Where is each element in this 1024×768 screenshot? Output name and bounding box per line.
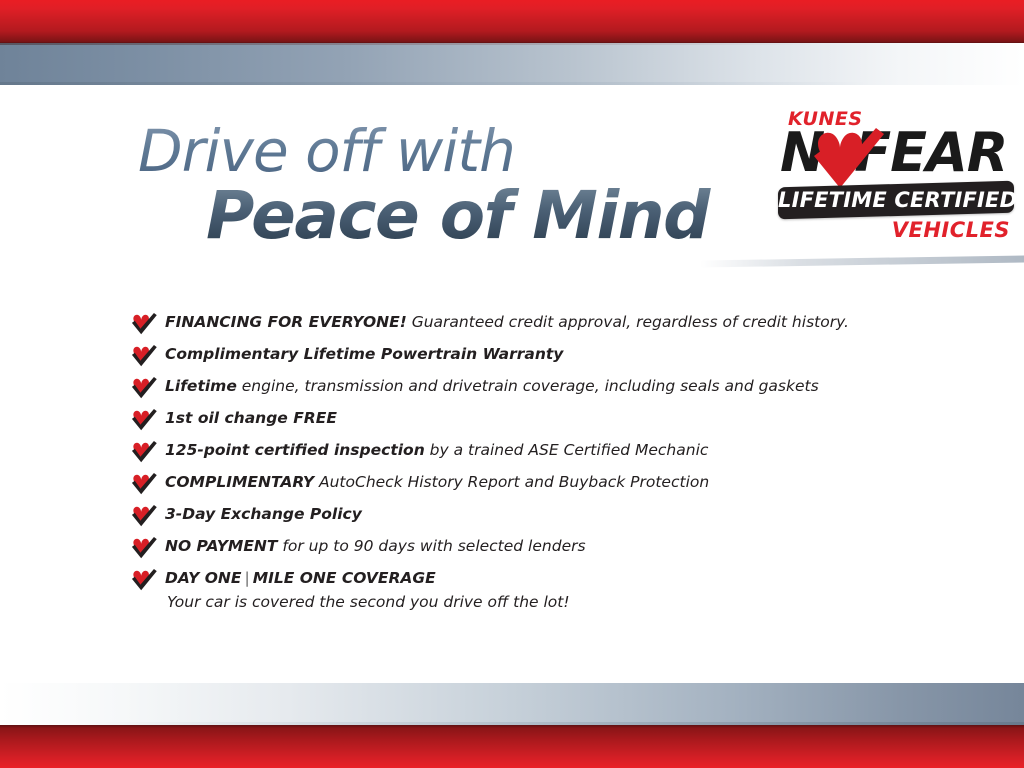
list-item-bold-a: DAY ONE bbox=[165, 569, 241, 587]
headline-block: Drive off with Peace of Mind bbox=[138, 122, 758, 249]
list-item-separator: | bbox=[241, 569, 252, 587]
list-item: NO PAYMENT for up to 90 days with select… bbox=[131, 534, 931, 566]
benefits-list: FINANCING FOR EVERYONE! Guaranteed credi… bbox=[131, 310, 931, 620]
list-item: 125-point certified inspection by a trai… bbox=[131, 438, 931, 470]
list-item-bold: Complimentary Lifetime Powertrain Warran… bbox=[165, 345, 563, 363]
list-item-text: FINANCING FOR EVERYONE! Guaranteed credi… bbox=[165, 313, 849, 331]
list-item-normal: AutoCheck History Report and Buyback Pro… bbox=[314, 473, 709, 491]
list-item-text: COMPLIMENTARY AutoCheck History Report a… bbox=[165, 473, 709, 491]
list-item-normal: by a trained ASE Certified Mechanic bbox=[425, 441, 709, 459]
list-item-subtext: Your car is covered the second you drive… bbox=[167, 590, 931, 614]
top-gray-band bbox=[0, 43, 1024, 85]
list-item-bold: Lifetime bbox=[165, 377, 237, 395]
logo-vehicles-text: VEHICLES bbox=[892, 218, 1010, 242]
list-item-bold: 125-point certified inspection bbox=[165, 441, 425, 459]
heart-check-icon bbox=[131, 505, 159, 527]
heart-check-icon bbox=[131, 569, 159, 591]
list-item-normal: Guaranteed credit approval, regardless o… bbox=[407, 313, 849, 331]
heart-check-icon bbox=[131, 313, 159, 335]
list-item: 3-Day Exchange Policy bbox=[131, 502, 931, 534]
kunes-no-fear-logo: KUNES NFEAR LIFETIME CERTIFIED VEHICLES bbox=[778, 108, 1016, 248]
list-item: 1st oil change FREE bbox=[131, 406, 931, 438]
list-item-text: 3-Day Exchange Policy bbox=[165, 505, 362, 523]
list-item-bold: 3-Day Exchange Policy bbox=[165, 505, 362, 523]
heart-check-icon bbox=[131, 473, 159, 495]
heart-check-icon bbox=[131, 409, 159, 431]
heart-check-icon bbox=[131, 537, 159, 559]
list-item-text: 125-point certified inspection by a trai… bbox=[165, 441, 708, 459]
logo-heart-check-icon bbox=[812, 128, 884, 190]
list-item-bold: 1st oil change FREE bbox=[165, 409, 337, 427]
bottom-gray-band bbox=[0, 683, 1024, 725]
list-item-text: DAY ONE|MILE ONE COVERAGE bbox=[165, 566, 931, 590]
heart-check-icon bbox=[131, 377, 159, 399]
header-divider bbox=[700, 255, 1024, 267]
list-item: Complimentary Lifetime Powertrain Warran… bbox=[131, 342, 931, 374]
logo-lifetime-certified-text: LIFETIME CERTIFIED bbox=[778, 184, 1014, 216]
list-item-bold-b: MILE ONE COVERAGE bbox=[253, 569, 436, 587]
heart-check-icon bbox=[131, 441, 159, 463]
list-item-bold: NO PAYMENT bbox=[165, 537, 277, 555]
list-item-text: Complimentary Lifetime Powertrain Warran… bbox=[165, 345, 563, 363]
list-item: DAY ONE|MILE ONE COVERAGE Your car is co… bbox=[131, 566, 931, 620]
list-item: COMPLIMENTARY AutoCheck History Report a… bbox=[131, 470, 931, 502]
list-item-normal: for up to 90 days with selected lenders bbox=[277, 537, 585, 555]
promo-banner: Drive off with Peace of Mind KUNES NFEAR… bbox=[0, 0, 1024, 768]
list-item: Lifetime engine, transmission and drivet… bbox=[131, 374, 931, 406]
top-red-band bbox=[0, 0, 1024, 43]
list-item-normal: engine, transmission and drivetrain cove… bbox=[237, 377, 819, 395]
headline-line-2: Peace of Mind bbox=[206, 182, 758, 249]
list-item: FINANCING FOR EVERYONE! Guaranteed credi… bbox=[131, 310, 931, 342]
list-item-bold: FINANCING FOR EVERYONE! bbox=[165, 313, 407, 331]
heart-check-icon bbox=[131, 345, 159, 367]
bottom-red-band bbox=[0, 725, 1024, 768]
list-item-bold: COMPLIMENTARY bbox=[165, 473, 314, 491]
list-item-text: Lifetime engine, transmission and drivet… bbox=[165, 377, 819, 395]
logo-lifetime-certified-bar: LIFETIME CERTIFIED bbox=[778, 181, 1014, 220]
list-item-text: 1st oil change FREE bbox=[165, 409, 337, 427]
headline-line-1: Drive off with bbox=[138, 122, 758, 180]
list-item-text: NO PAYMENT for up to 90 days with select… bbox=[165, 537, 586, 555]
